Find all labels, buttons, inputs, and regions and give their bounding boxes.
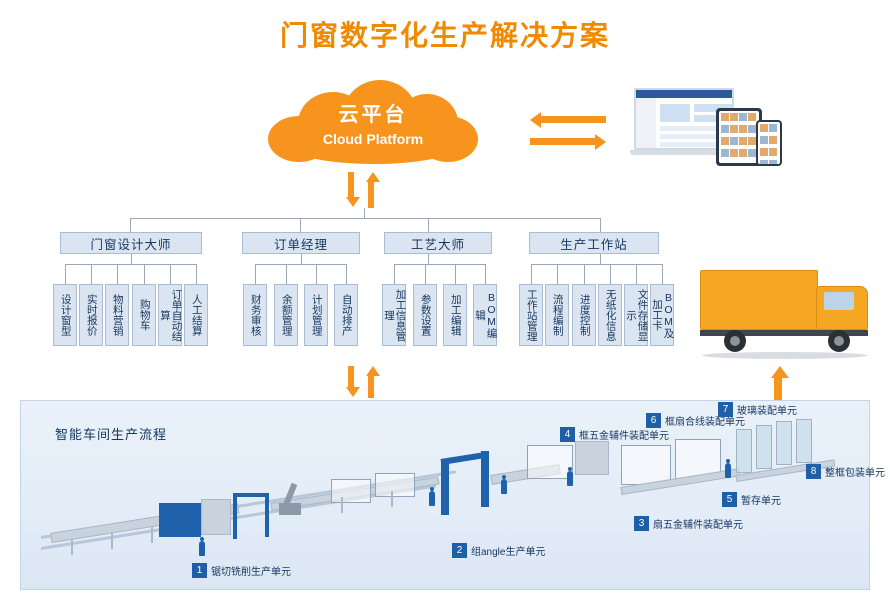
unit2-robot-base — [279, 503, 301, 515]
module3-stem — [428, 254, 429, 264]
arrow-workshop-to-truck — [772, 366, 786, 404]
tablet-thumb — [721, 125, 729, 133]
phone-thumb — [760, 160, 768, 164]
module1-item-3[interactable]: 物料营销 — [105, 284, 129, 346]
phone-device — [756, 120, 782, 166]
tablet-thumb — [748, 125, 756, 133]
callout-number: 2 — [452, 543, 467, 558]
workshop-callout-5[interactable]: 5 暂存单元 — [722, 492, 781, 507]
callout-label: 扇五金辅件装配单元 — [653, 516, 743, 531]
callout-label: 整框包装单元 — [825, 464, 885, 479]
module4-leg-3 — [584, 264, 585, 284]
module2-item-3[interactable]: 计划管理 — [304, 284, 328, 346]
phone-thumb-row-2 — [758, 134, 780, 146]
phone-thumb — [760, 148, 768, 156]
worker — [429, 491, 435, 506]
callout-number: 7 — [718, 402, 733, 417]
laptop-ui-topbar — [636, 90, 732, 98]
truck-shadow — [702, 352, 868, 359]
page-title: 门窗数字化生产解决方案 — [0, 14, 890, 54]
module1-bus — [65, 264, 197, 265]
module4-item-2[interactable]: 流程编制 — [545, 284, 569, 346]
module3-item-3[interactable]: 加工编辑 — [443, 284, 467, 346]
module3-item-2[interactable]: 参数设置 — [413, 284, 437, 346]
truck-cargo-box — [700, 270, 818, 330]
module3-item-4[interactable]: BOM编辑 — [473, 284, 497, 346]
tablet-thumb — [730, 125, 738, 133]
tablet-thumb-row-2 — [719, 123, 759, 135]
callout-number: 6 — [646, 413, 661, 428]
module4-item-1[interactable]: 工作站管理 — [519, 284, 543, 346]
tree-drop-1 — [130, 218, 131, 232]
unit-1-saw-mill — [51, 493, 271, 563]
module1-leg-5 — [170, 264, 171, 284]
module1-stem — [131, 254, 132, 264]
unit1-frame-top — [233, 493, 269, 497]
callout-label: 玻璃装配单元 — [737, 402, 797, 417]
truck-wheel-rear — [724, 330, 746, 352]
tablet-thumb-row-4 — [719, 147, 759, 159]
unit1-cabinet — [201, 499, 231, 535]
unit34-column — [481, 451, 489, 507]
module1-item-2[interactable]: 实时报价 — [79, 284, 103, 346]
glass-panel — [756, 425, 772, 469]
module4-leg-6 — [662, 264, 663, 284]
truck-window — [824, 292, 854, 310]
tree-drop-3 — [428, 218, 429, 232]
tree-drop-4 — [600, 218, 601, 232]
callout-number: 5 — [722, 492, 737, 507]
tablet-thumb — [748, 113, 756, 121]
tablet-thumb — [730, 137, 738, 145]
glass-panel — [796, 419, 812, 463]
glass-panel — [736, 429, 752, 473]
unit-3-4-hardware — [441, 441, 631, 531]
unit2-leg — [391, 491, 393, 507]
callout-number: 8 — [806, 464, 821, 479]
callout-number: 4 — [560, 427, 575, 442]
unit2-rack — [331, 479, 371, 503]
callout-number: 3 — [634, 516, 649, 531]
tablet-thumb — [739, 149, 747, 157]
glass-panel — [776, 421, 792, 465]
module1-leg-2 — [91, 264, 92, 284]
module1-item-6[interactable]: 人工结算 — [184, 284, 208, 346]
phone-thumb-row-3 — [758, 146, 780, 158]
callout-label: 锯切铣削生产单元 — [211, 563, 291, 578]
tree-bus — [130, 218, 600, 219]
cloud-label-en: Cloud Platform — [268, 131, 478, 147]
workshop-callout-8[interactable]: 8 整框包装单元 — [806, 464, 885, 479]
module1-item-4[interactable]: 购物车 — [132, 284, 156, 346]
diagram-canvas: 门窗数字化生产解决方案 云平台 Cloud Platform 门窗设计大师 — [0, 0, 890, 600]
module3-leg-4 — [485, 264, 486, 284]
phone-thumb — [769, 124, 777, 132]
cloud-label-cn: 云平台 — [268, 98, 478, 127]
unit-2-assembly — [271, 461, 451, 541]
module1-item-1[interactable]: 设计窗型 — [53, 284, 77, 346]
module1-item-5[interactable]: 订单自动结算 — [158, 284, 182, 346]
tree-trunk — [364, 208, 365, 218]
worker — [199, 541, 205, 556]
worker — [725, 463, 731, 478]
unit1-leg — [151, 527, 153, 543]
phone-thumb — [760, 124, 768, 132]
unit2-leg — [341, 497, 343, 513]
unit34-cabinet — [575, 441, 609, 475]
module2-stem — [301, 254, 302, 264]
module2-leg-3 — [316, 264, 317, 284]
unit1-frame-post — [265, 493, 269, 537]
workshop-callout-3[interactable]: 3 扇五金辅件装配单元 — [634, 516, 743, 531]
arrow-modules-to-workshop — [348, 366, 382, 398]
unit1-frame-post — [233, 493, 237, 539]
tablet-thumb — [721, 137, 729, 145]
unit2-rack — [375, 473, 415, 497]
workshop-callout-1[interactable]: 1 锯切铣削生产单元 — [192, 563, 291, 578]
tablet-thumb — [730, 149, 738, 157]
module-header-2[interactable]: 订单经理 — [242, 232, 360, 254]
module3-bus — [394, 264, 486, 265]
tree-drop-2 — [300, 218, 301, 232]
module4-item-6[interactable]: BOM及加工卡 — [650, 284, 674, 346]
module2-leg-2 — [286, 264, 287, 284]
module2-leg-1 — [255, 264, 256, 284]
tablet-thumb — [748, 149, 756, 157]
module2-item-1[interactable]: 财务审核 — [243, 284, 267, 346]
module3-leg-1 — [394, 264, 395, 284]
tablet-thumb — [721, 149, 729, 157]
workshop-callout-4[interactable]: 4 框五金辅件装配单元 — [560, 427, 669, 442]
module1-leg-6 — [196, 264, 197, 284]
module2-item-2[interactable]: 余额管理 — [274, 284, 298, 346]
module-header-4[interactable]: 生产工作站 — [529, 232, 659, 254]
unit34-column — [441, 459, 449, 515]
module4-bus — [531, 264, 663, 265]
phone-thumb — [760, 136, 768, 144]
worker — [567, 471, 573, 486]
module4-item-5[interactable]: 文件存储显示 — [624, 284, 648, 346]
tablet-thumb — [739, 113, 747, 121]
module4-leg-1 — [531, 264, 532, 284]
callout-label: 暂存单元 — [741, 492, 781, 507]
module3-leg-3 — [455, 264, 456, 284]
delivery-truck — [700, 262, 872, 362]
phone-screen — [758, 122, 780, 164]
module-header-1[interactable]: 门窗设计大师 — [60, 232, 202, 254]
workshop-callout-7[interactable]: 7 玻璃装配单元 — [718, 402, 797, 417]
module4-leg-2 — [557, 264, 558, 284]
phone-thumb-row-1 — [758, 122, 780, 134]
phone-thumb — [769, 136, 777, 144]
arrow-cloud-to-modules — [348, 172, 382, 208]
module1-leg-4 — [144, 264, 145, 284]
tablet-thumb — [730, 113, 738, 121]
module3-item-1[interactable]: 加工信息管理 — [382, 284, 406, 346]
module4-item-4[interactable]: 无纸化信息 — [598, 284, 622, 346]
callout-number: 1 — [192, 563, 207, 578]
unit1-leg — [111, 533, 113, 549]
tablet-thumb — [739, 137, 747, 145]
phone-thumb — [769, 148, 777, 156]
tablet-thumb — [739, 125, 747, 133]
module1-leg-3 — [117, 264, 118, 284]
unit1-machine-body — [159, 503, 201, 537]
laptop-ui-sidebar — [636, 98, 656, 148]
laptop-ui-cell-1 — [660, 104, 690, 122]
module4-leg-5 — [636, 264, 637, 284]
worker — [501, 479, 507, 494]
unit1-leg — [71, 539, 73, 555]
cloud-platform-node: 云平台 Cloud Platform — [268, 80, 478, 165]
module4-stem — [600, 254, 601, 264]
workshop-callout-2[interactable]: 2 组angle生产单元 — [452, 543, 545, 558]
tablet-thumb-row-3 — [719, 135, 759, 147]
module2-leg-4 — [346, 264, 347, 284]
module3-leg-2 — [425, 264, 426, 284]
module2-item-4[interactable]: 自动排产 — [334, 284, 358, 346]
phone-thumb — [769, 160, 777, 164]
tablet-thumb — [748, 137, 756, 145]
tablet-thumb-row-1 — [719, 111, 759, 123]
module4-leg-4 — [610, 264, 611, 284]
module1-leg-1 — [65, 264, 66, 284]
tablet-screen — [719, 111, 759, 163]
unit56-rack — [621, 445, 671, 485]
module2-bus — [255, 264, 347, 265]
module-header-3[interactable]: 工艺大师 — [384, 232, 492, 254]
callout-label: 组angle生产单元 — [471, 543, 545, 558]
phone-thumb-row-4 — [758, 158, 780, 164]
cloud-label: 云平台 Cloud Platform — [268, 98, 478, 147]
callout-label: 框五金辅件装配单元 — [579, 427, 669, 442]
tablet-thumb — [721, 113, 729, 121]
truck-wheel-front — [828, 330, 850, 352]
module4-item-3[interactable]: 进度控制 — [572, 284, 596, 346]
workshop-title: 智能车间生产流程 — [55, 424, 167, 443]
arrow-cloud-to-devices — [530, 112, 606, 156]
